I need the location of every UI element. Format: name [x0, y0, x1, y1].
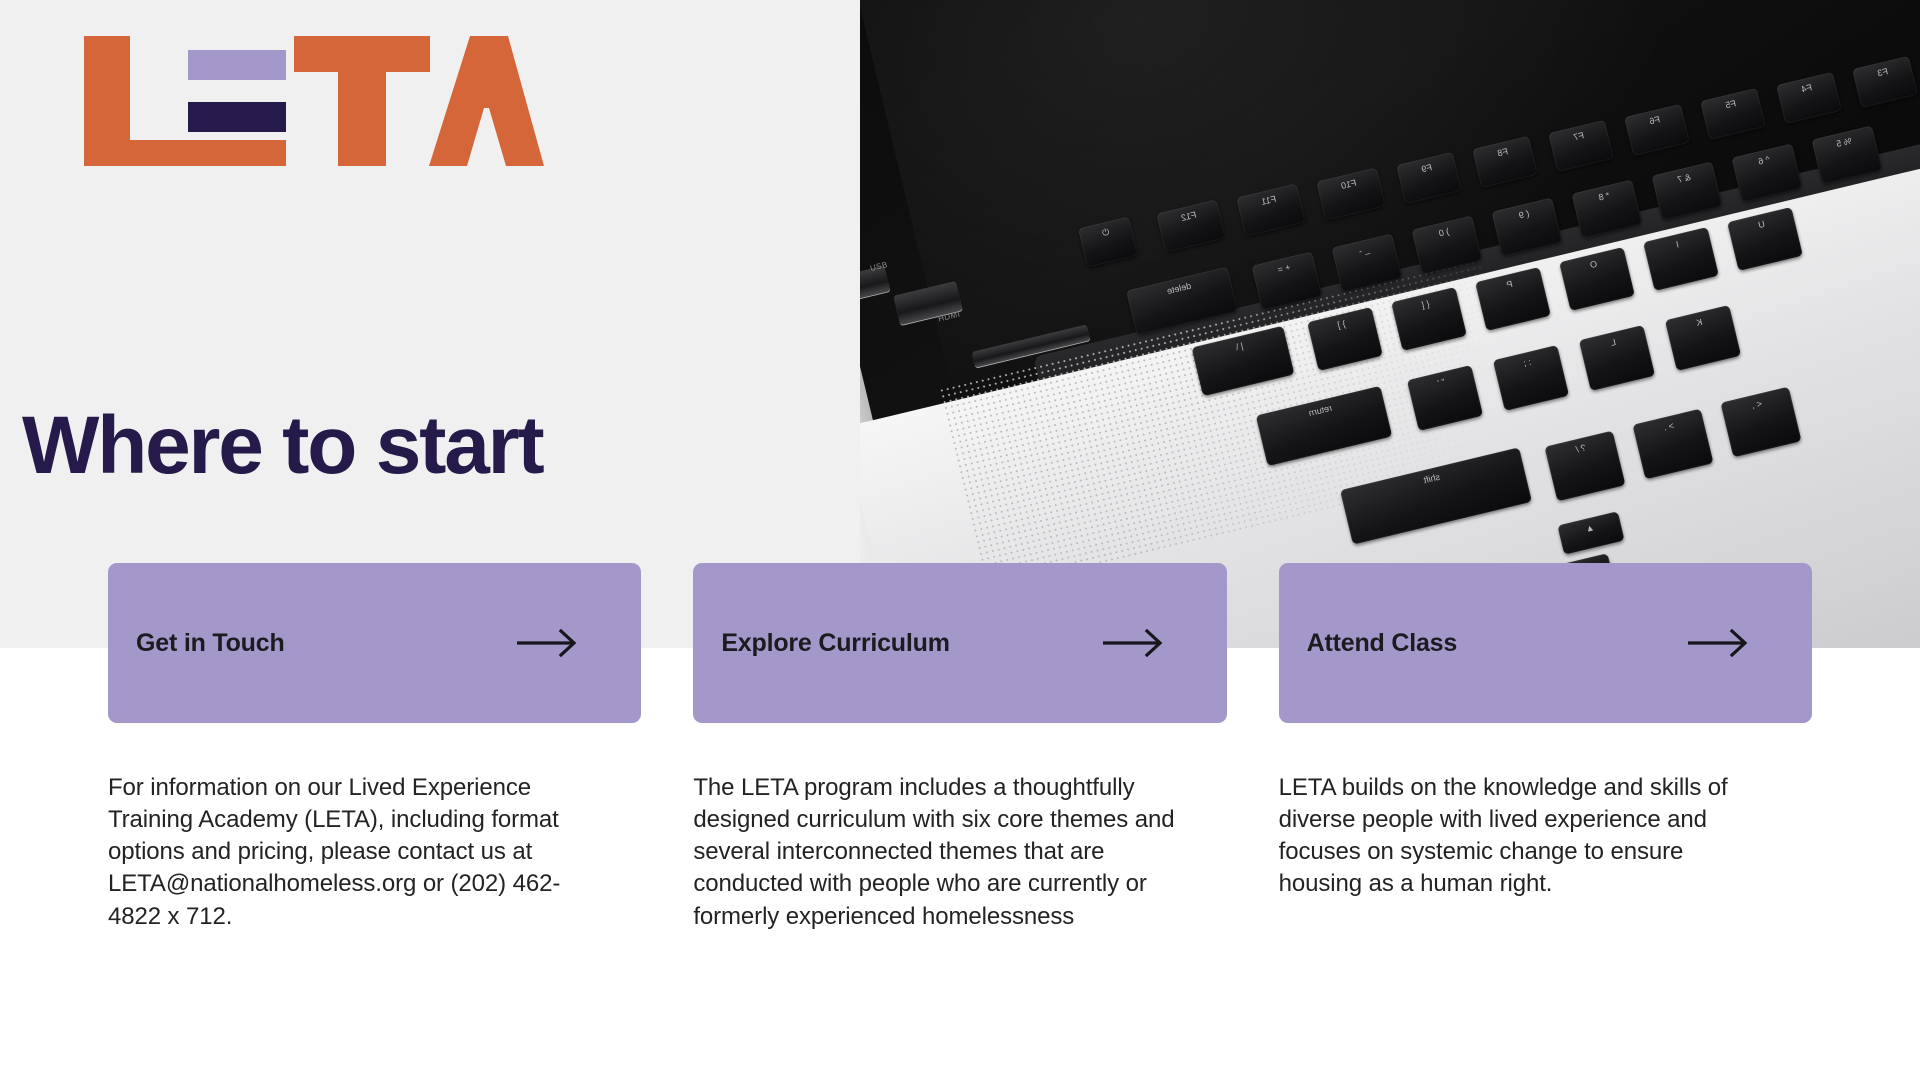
- arrow-right-icon: [1103, 628, 1165, 658]
- cta-get-in-touch[interactable]: Get in Touch: [108, 563, 641, 723]
- key-slash: ? /: [1544, 431, 1625, 502]
- cta-label: Explore Curriculum: [721, 629, 949, 658]
- key-f11: F11: [1236, 183, 1306, 236]
- key-f3: F3: [1852, 56, 1918, 108]
- key-8: * 8: [1571, 179, 1642, 238]
- key-arrow-up: ▲: [1557, 511, 1624, 555]
- key-f10: F10: [1316, 167, 1386, 220]
- key-o: O: [1559, 247, 1635, 311]
- key-period: > .: [1632, 409, 1713, 480]
- arrow-right-icon: [1688, 628, 1750, 658]
- key-f12: F12: [1156, 199, 1226, 252]
- cta-columns: Get in Touch For information on our Live…: [108, 563, 1812, 933]
- key-k: K: [1665, 305, 1741, 371]
- key-u: U: [1727, 207, 1803, 271]
- page-title: Where to start: [22, 405, 543, 487]
- arrow-right-icon: [517, 628, 579, 658]
- cta-explore-curriculum[interactable]: Explore Curriculum: [693, 563, 1226, 723]
- key-power: ⏻: [1078, 216, 1138, 267]
- key-9: ( 9: [1491, 197, 1562, 256]
- key-l: L: [1579, 325, 1655, 391]
- page-root: USB HDMI ⏻ F12 F11 F10 F9 F8 F7 F6 F5 F4…: [0, 0, 1920, 1080]
- cta-attend-class[interactable]: Attend Class: [1279, 563, 1812, 723]
- laptop-keyboard: ⏻ F12 F11 F10 F9 F8 F7 F6 F5 F4 F3 delet…: [860, 0, 1920, 648]
- key-5: % 5: [1811, 125, 1882, 184]
- column-get-in-touch: Get in Touch For information on our Live…: [108, 563, 641, 933]
- column-body-text: For information on our Lived Experience …: [108, 772, 578, 933]
- cta-label: Get in Touch: [136, 629, 285, 658]
- key-p: P: [1475, 267, 1551, 331]
- key-equal: + =: [1251, 251, 1322, 310]
- key-bracket-r: } ]: [1307, 307, 1383, 371]
- cta-label: Attend Class: [1307, 629, 1457, 658]
- key-minus: _ -: [1331, 233, 1402, 292]
- column-body-text: The LETA program includes a thoughtfully…: [693, 772, 1193, 933]
- key-bracket-l: { [: [1391, 287, 1467, 351]
- key-quote: " ': [1407, 365, 1483, 431]
- leta-logomark: [84, 30, 544, 200]
- key-6: ^ 6: [1731, 143, 1802, 202]
- column-body-text: LETA builds on the knowledge and skills …: [1279, 772, 1771, 901]
- key-backslash: | \: [1191, 326, 1294, 397]
- key-f9: F9: [1396, 152, 1462, 204]
- key-return: return: [1256, 386, 1393, 466]
- key-f4: F4: [1776, 72, 1842, 124]
- key-7: & 7: [1651, 161, 1722, 220]
- key-f5: F5: [1700, 88, 1766, 140]
- key-shift-right: shift: [1340, 447, 1532, 544]
- column-attend-class: Attend Class LETA builds on the knowledg…: [1279, 563, 1812, 933]
- key-i: I: [1643, 227, 1719, 291]
- key-delete: delete: [1126, 266, 1238, 335]
- leta-logo[interactable]: [84, 30, 544, 200]
- key-comma: < ,: [1720, 387, 1801, 458]
- column-explore-curriculum: Explore Curriculum The LETA program incl…: [693, 563, 1226, 933]
- key-f7: F7: [1548, 120, 1614, 172]
- key-semicolon: : ;: [1493, 345, 1569, 411]
- key-f8: F8: [1472, 136, 1538, 188]
- key-0: ) 0: [1411, 215, 1482, 274]
- laptop-photo: USB HDMI ⏻ F12 F11 F10 F9 F8 F7 F6 F5 F4…: [860, 0, 1920, 648]
- key-f6: F6: [1624, 104, 1690, 156]
